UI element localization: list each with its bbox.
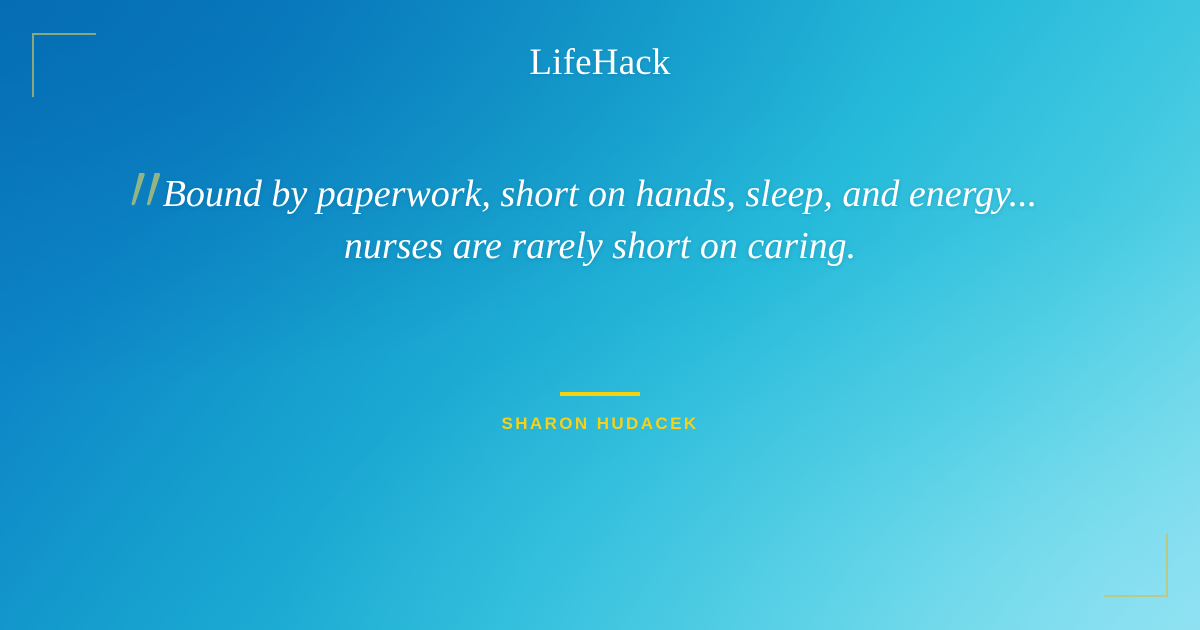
quote-line: nurses are rarely short on caring. xyxy=(120,220,1080,272)
corner-bracket-top-left-icon xyxy=(32,33,96,97)
quote-text: Bound by paperwork, short on hands, slee… xyxy=(0,168,1200,272)
quote-block: Bound by paperwork, short on hands, slee… xyxy=(0,168,1200,272)
corner-bracket-bottom-right-icon xyxy=(1104,533,1168,597)
quote-author: Sharon Hudacek xyxy=(0,414,1200,434)
quotation-mark-icon xyxy=(130,172,172,216)
quote-card: LifeHack Bound by paperwork, short on ha… xyxy=(0,0,1200,630)
brand-logo: LifeHack xyxy=(0,41,1200,84)
attribution-divider-wrap xyxy=(0,383,1200,401)
quote-line: Bound by paperwork, short on hands, slee… xyxy=(120,168,1080,220)
attribution-divider xyxy=(560,392,640,396)
